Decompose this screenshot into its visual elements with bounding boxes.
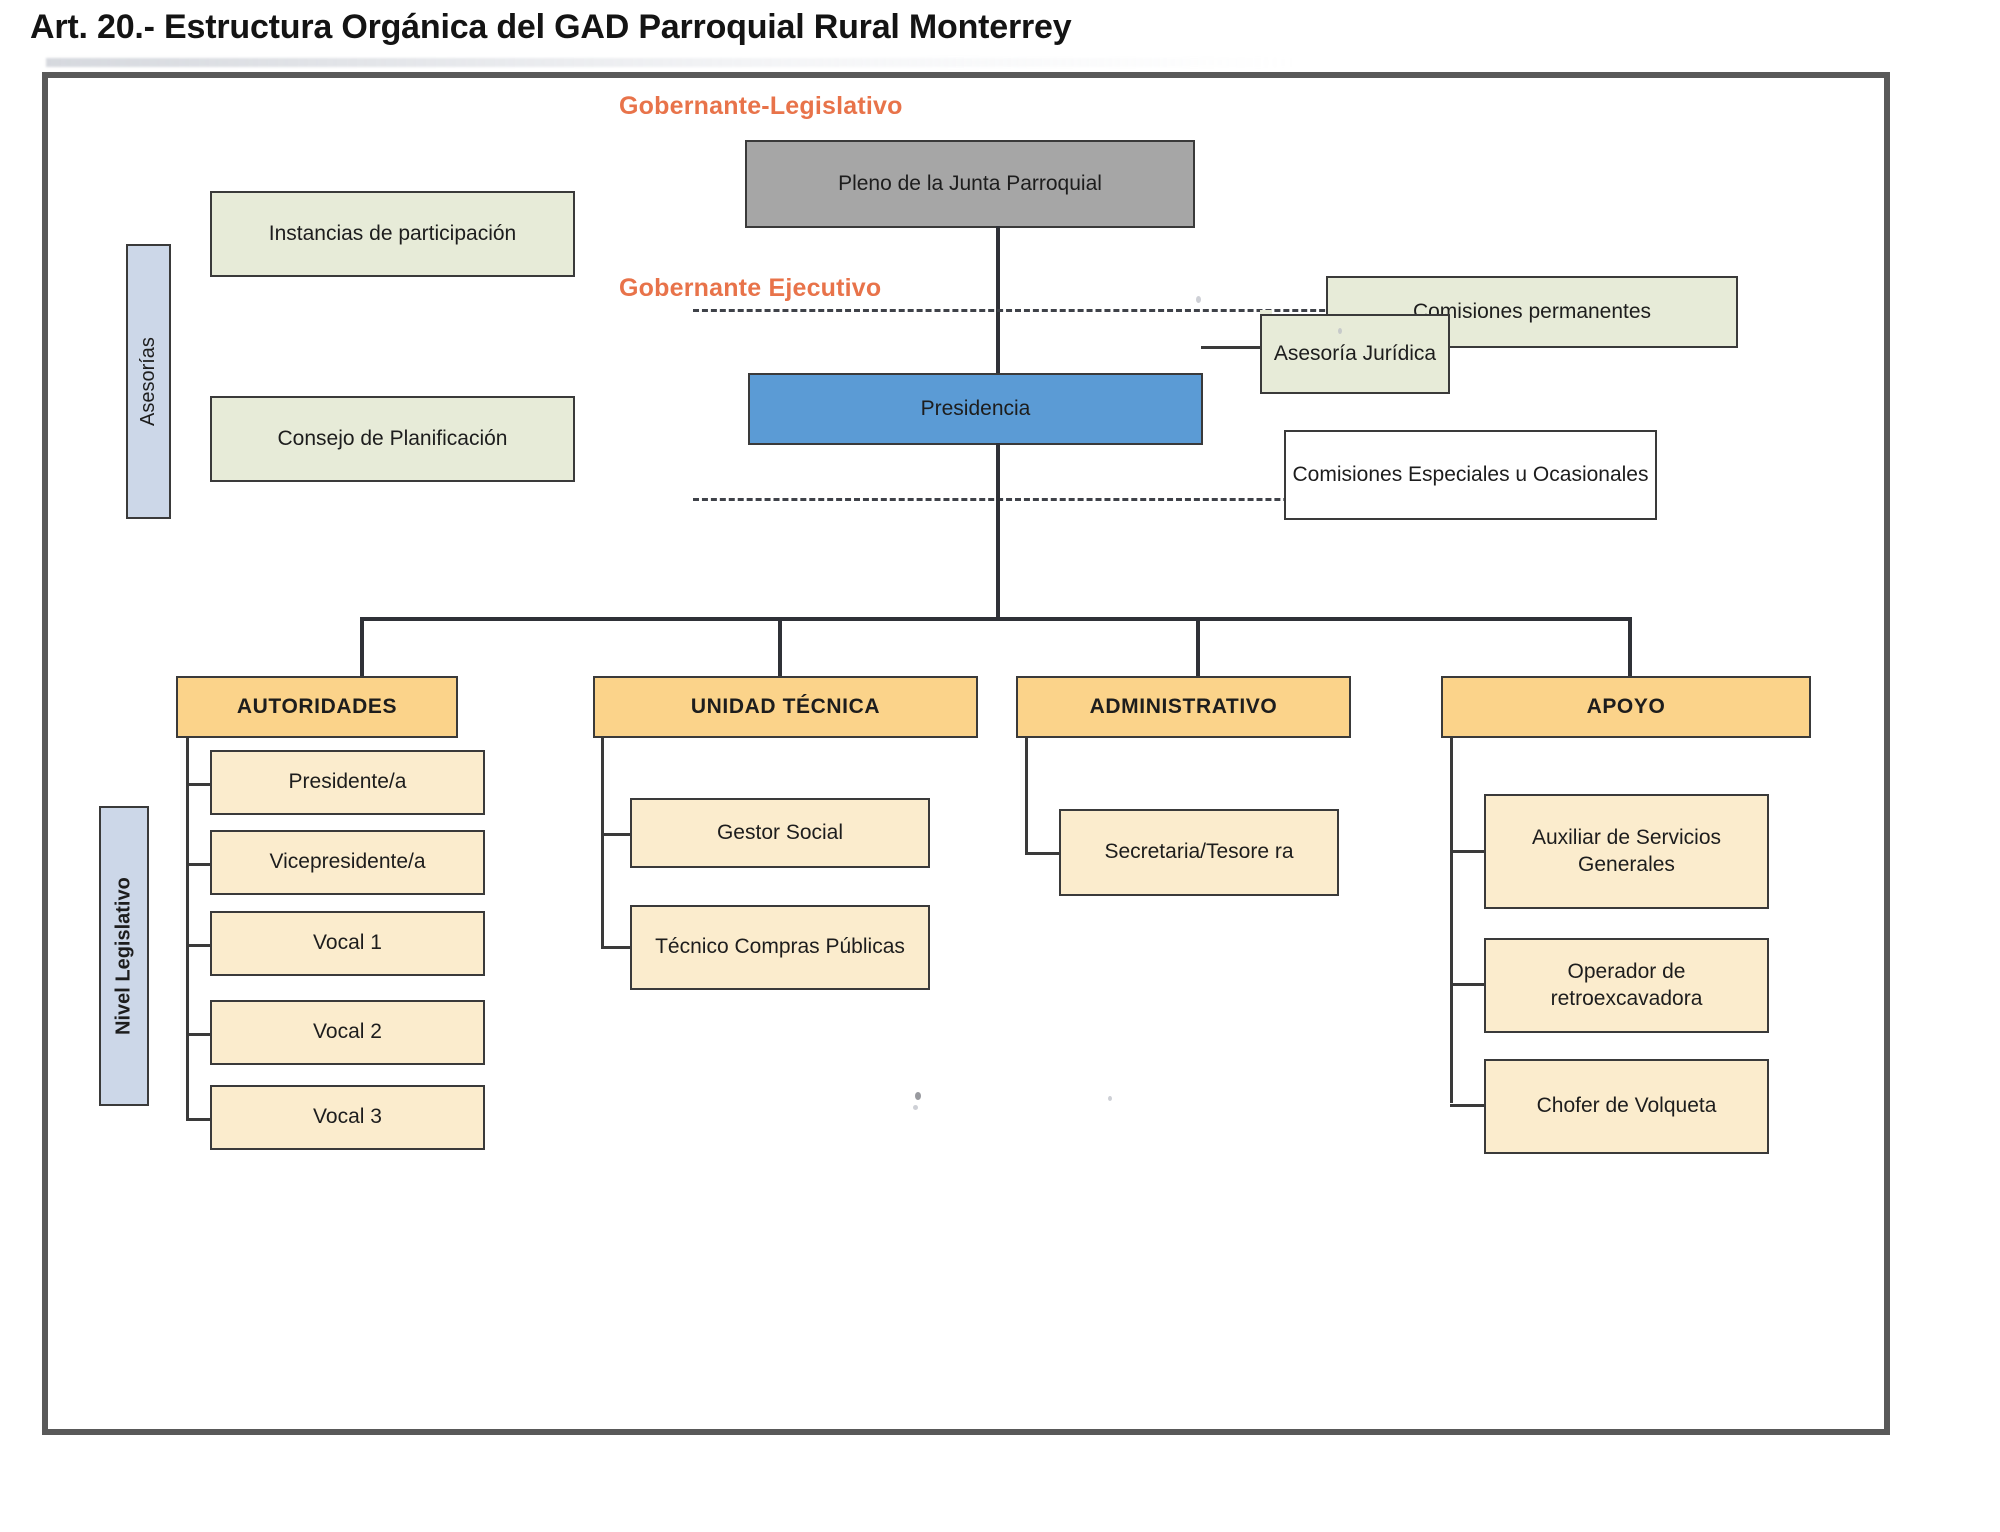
connector-spine-administrativo: [1025, 738, 1028, 855]
scan-ink-mark: [915, 1092, 921, 1100]
scan-speck: [913, 1105, 918, 1110]
connector-drop-administrativo: [1196, 617, 1200, 678]
side-label-nivel-legislativo: Nivel Legislativo: [99, 806, 149, 1106]
page-title: Art. 20.- Estructura Orgánica del GAD Pa…: [30, 8, 1071, 47]
connector-spine-apoyo: [1450, 738, 1453, 1103]
scan-speck: [1108, 1096, 1112, 1101]
connector-leaf-apoyo-1: [1450, 983, 1485, 986]
connector-drop-apoyo: [1628, 617, 1632, 678]
column-header-administrativo[interactable]: ADMINISTRATIVO: [1016, 676, 1351, 738]
node-vocal-3[interactable]: Vocal 3: [210, 1085, 485, 1150]
connector-pleno-to-presidencia: [996, 226, 1000, 378]
node-operador-retroexcavadora[interactable]: Operador de retroexcavadora: [1484, 938, 1769, 1033]
node-pleno-junta-parroquial[interactable]: Pleno de la Junta Parroquial: [745, 140, 1195, 228]
node-gestor-social[interactable]: Gestor Social: [630, 798, 930, 868]
node-tecnico-compras-publicas[interactable]: Técnico Compras Públicas: [630, 905, 930, 990]
connector-leaf-apoyo-0: [1450, 850, 1485, 853]
divider-executive-dashed: [693, 498, 1343, 501]
scan-speck: [1338, 328, 1342, 334]
node-secretaria-tesorera[interactable]: Secretaria/Tesore ra: [1059, 809, 1339, 896]
connector-leaf-autoridades-0: [186, 783, 211, 786]
divider-legislative-dashed: [693, 309, 1343, 312]
connector-drop-autoridades: [360, 617, 364, 678]
node-instancias-de-participacion[interactable]: Instancias de participación: [210, 191, 575, 277]
connector-drop-unidad-tecnica: [778, 617, 782, 678]
connector-spine-unidad-tecnica: [601, 738, 604, 948]
node-presidente[interactable]: Presidente/a: [210, 750, 485, 815]
connector-leaf-administrativo-0: [1025, 852, 1060, 855]
connector-leaf-autoridades-2: [186, 944, 211, 947]
connector-leaf-unidad-tecnica-1: [601, 946, 631, 949]
connector-leaf-unidad-tecnica-0: [601, 833, 631, 836]
node-consejo-de-planificacion[interactable]: Consejo de Planificación: [210, 396, 575, 482]
caption-gobernante-legislativo: Gobernante-Legislativo: [619, 92, 903, 121]
connector-presidencia-to-asesoria-juridica: [1201, 346, 1261, 349]
connector-presidencia-trunk: [996, 443, 1000, 621]
connector-spine-autoridades: [186, 738, 189, 1120]
node-vocal-1[interactable]: Vocal 1: [210, 911, 485, 976]
side-label-asesorias: Asesorías: [126, 244, 171, 519]
node-auxiliar-servicios-generales[interactable]: Auxiliar de Servicios Generales: [1484, 794, 1769, 909]
node-asesoria-juridica[interactable]: Asesoría Jurídica: [1260, 314, 1450, 394]
node-chofer-volqueta[interactable]: Chofer de Volqueta: [1484, 1059, 1769, 1154]
connector-leaf-autoridades-4: [186, 1118, 211, 1121]
column-header-apoyo[interactable]: APOYO: [1441, 676, 1811, 738]
column-header-unidad-tecnica[interactable]: UNIDAD TÉCNICA: [593, 676, 978, 738]
connector-leaf-autoridades-3: [186, 1033, 211, 1036]
node-vocal-2[interactable]: Vocal 2: [210, 1000, 485, 1065]
org-chart-frame: Gobernante-Legislativo Gobernante Ejecut…: [42, 72, 1890, 1435]
node-comisiones-especiales-ocasionales[interactable]: Comisiones Especiales u Ocasionales: [1284, 430, 1657, 520]
scan-speck: [1196, 296, 1201, 303]
caption-gobernante-ejecutivo: Gobernante Ejecutivo: [619, 274, 881, 303]
connector-distribution-bar: [360, 617, 1632, 621]
node-presidencia[interactable]: Presidencia: [748, 373, 1203, 445]
column-header-autoridades[interactable]: AUTORIDADES: [176, 676, 458, 738]
connector-leaf-autoridades-1: [186, 863, 211, 866]
connector-leaf-apoyo-2: [1450, 1104, 1485, 1107]
node-vicepresidente[interactable]: Vicepresidente/a: [210, 830, 485, 895]
scan-artifact: [46, 58, 1296, 67]
